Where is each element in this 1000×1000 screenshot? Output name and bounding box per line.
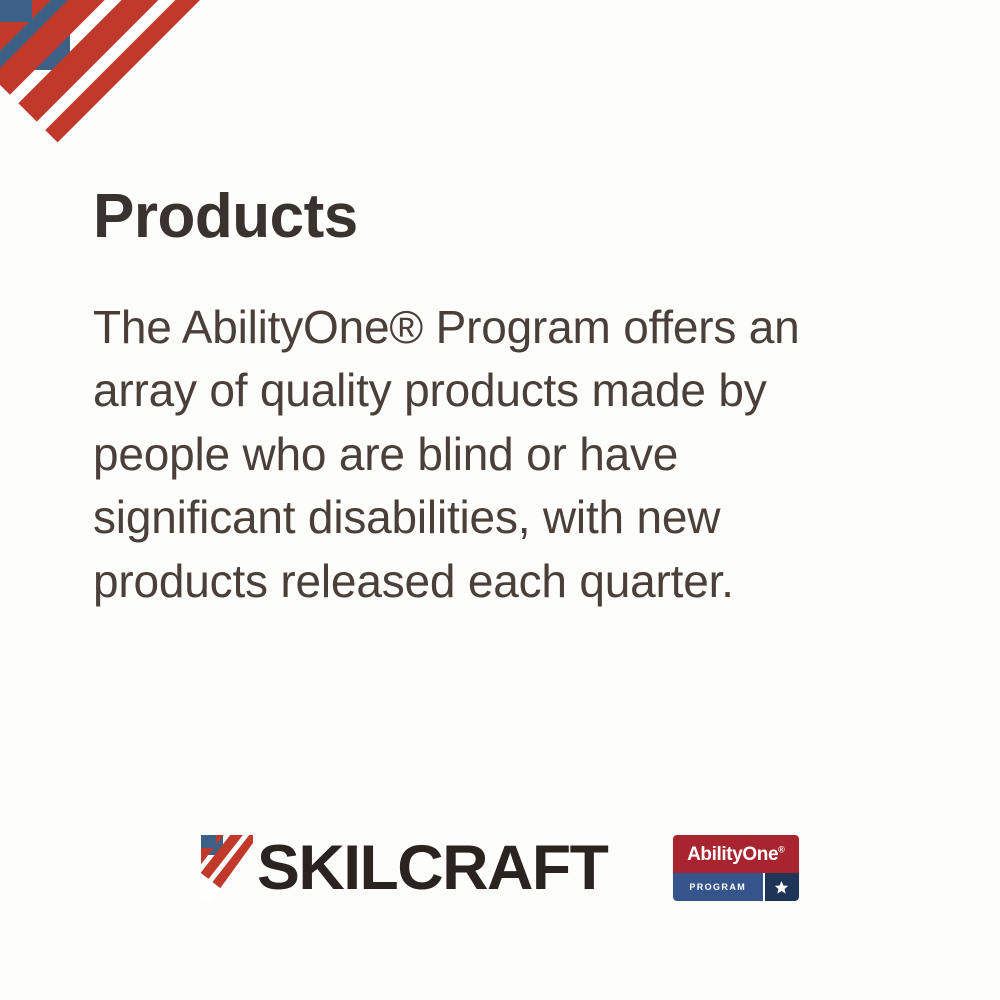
text-content: Products The AbilityOne® Program offers … xyxy=(93,186,893,613)
logo-row: SKILCRAFT AbilityOne® PROGRAM xyxy=(0,818,1000,918)
abilityone-name: AbilityOne® xyxy=(687,845,784,864)
page-title: Products xyxy=(93,186,893,248)
abilityone-program-panel: PROGRAM xyxy=(673,873,763,901)
abilityone-logo: AbilityOne® PROGRAM xyxy=(673,835,799,901)
registered-trademark-icon: ® xyxy=(778,844,784,854)
abilityone-bottom-bar: PROGRAM xyxy=(673,873,799,901)
skilcraft-flag-icon xyxy=(201,835,253,901)
skilcraft-wordmark: SKILCRAFT xyxy=(257,837,607,900)
abilityone-star-panel xyxy=(763,873,799,901)
abilityone-program-label: PROGRAM xyxy=(689,883,746,892)
star-icon xyxy=(774,880,789,895)
body-description: The AbilityOne® Program offers an array … xyxy=(93,248,853,613)
skilcraft-logo: SKILCRAFT xyxy=(201,835,600,901)
product-info-card: Products The AbilityOne® Program offers … xyxy=(0,0,1000,1000)
abilityone-top-bar: AbilityOne® xyxy=(673,835,799,873)
abilityone-name-text: AbilityOne xyxy=(687,844,778,865)
